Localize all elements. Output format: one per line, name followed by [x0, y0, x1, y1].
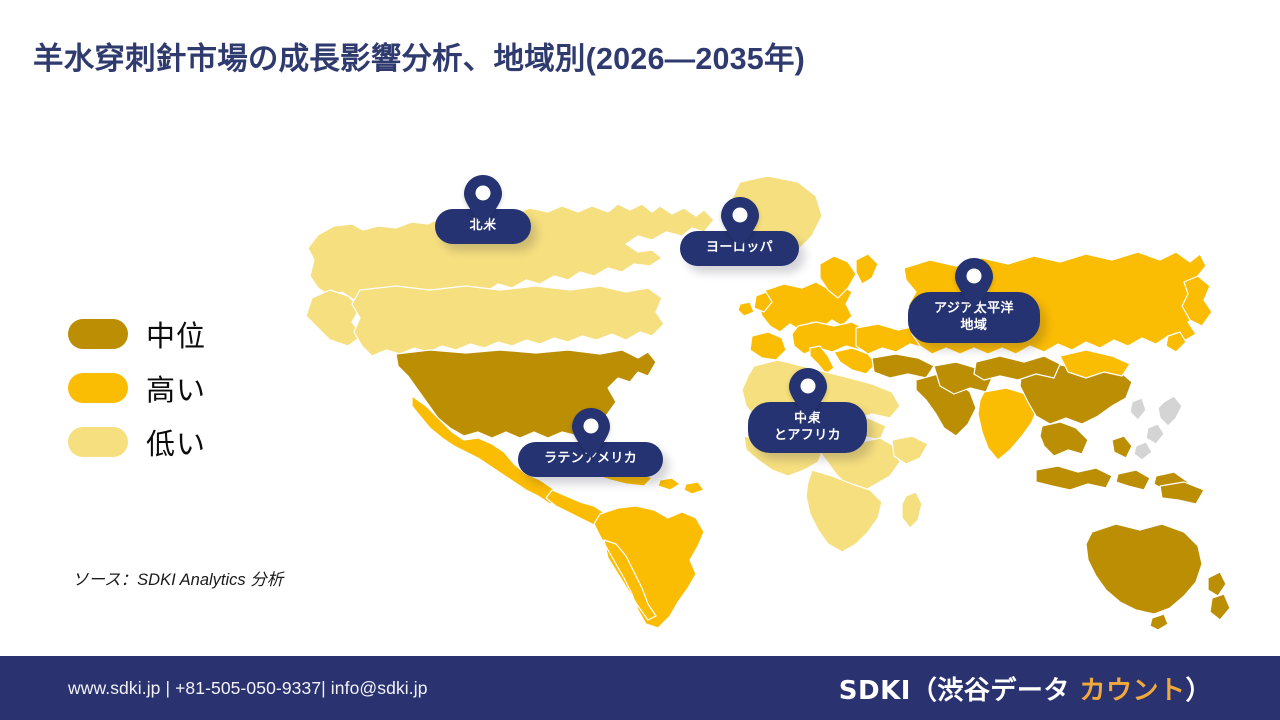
region-central-asia — [974, 356, 1060, 380]
region-southeast-asia — [1040, 422, 1088, 456]
map-legend: 中位 高い 低い — [68, 315, 206, 461]
region-canada-mainland — [352, 286, 664, 356]
map-pin-icon — [955, 258, 993, 308]
map-marker-europe[interactable]: ヨーロッパ — [680, 197, 799, 266]
region-philippines — [1112, 436, 1132, 458]
legend-label-high: 高い — [146, 367, 206, 409]
region-new-guinea — [1160, 482, 1204, 504]
map-pin-icon — [464, 175, 502, 225]
legend-label-low: 低い — [146, 421, 206, 463]
region-tasmania — [1150, 614, 1168, 630]
footer-logo-main: SDKI（渋谷データ — [839, 676, 1080, 706]
legend-item-medium: 中位 — [68, 315, 206, 353]
slide-canvas: 羊水穿刺針市場の成長影響分析、地域別(2026—2035年) — [0, 0, 1280, 720]
source-note: ソース：SDKI Analytics 分析 — [72, 566, 283, 590]
legend-item-high: 高い — [68, 369, 206, 407]
map-marker-north-america[interactable]: 北米 — [435, 175, 531, 244]
map-pin-icon — [572, 408, 610, 458]
footer-contact-info[interactable]: www.sdki.jp | +81-505-050-9337| info@sdk… — [68, 678, 428, 699]
region-australia — [1086, 524, 1202, 614]
region-iberia — [750, 332, 786, 360]
page-title-years: (2026—2035年) — [586, 42, 805, 76]
map-pin-icon — [789, 368, 827, 418]
legend-swatch-high — [68, 373, 128, 403]
footer-bar: www.sdki.jp | +81-505-050-9337| info@sdk… — [0, 656, 1280, 720]
map-marker-middle-east-africa[interactable]: 中東 とアフリカ — [748, 368, 867, 453]
legend-swatch-medium — [68, 319, 128, 349]
footer-logo-tail: ） — [1185, 676, 1212, 706]
region-south-america — [594, 506, 704, 628]
region-korea — [1130, 398, 1146, 420]
footer-logo: SDKI（渋谷データ カウント） — [839, 670, 1212, 707]
map-pin-icon — [721, 197, 759, 247]
legend-swatch-low — [68, 427, 128, 457]
map-marker-asia-pacific[interactable]: アジア太平洋 地域 — [908, 258, 1040, 343]
legend-label-medium: 中位 — [146, 313, 206, 355]
region-turkey — [872, 354, 934, 378]
region-new-zealand — [1208, 572, 1230, 620]
map-marker-latin-america[interactable]: ラテンアメリカ — [518, 408, 663, 477]
legend-item-low: 低い — [68, 423, 206, 461]
page-title: 羊水穿刺針市場の成長影響分析、地域別(2026—2035年) — [33, 40, 1133, 78]
footer-logo-accent: カウント — [1079, 676, 1185, 706]
region-madagascar — [902, 492, 922, 528]
page-title-main: 羊水穿刺針市場の成長影響分析、地域別 — [33, 42, 586, 76]
